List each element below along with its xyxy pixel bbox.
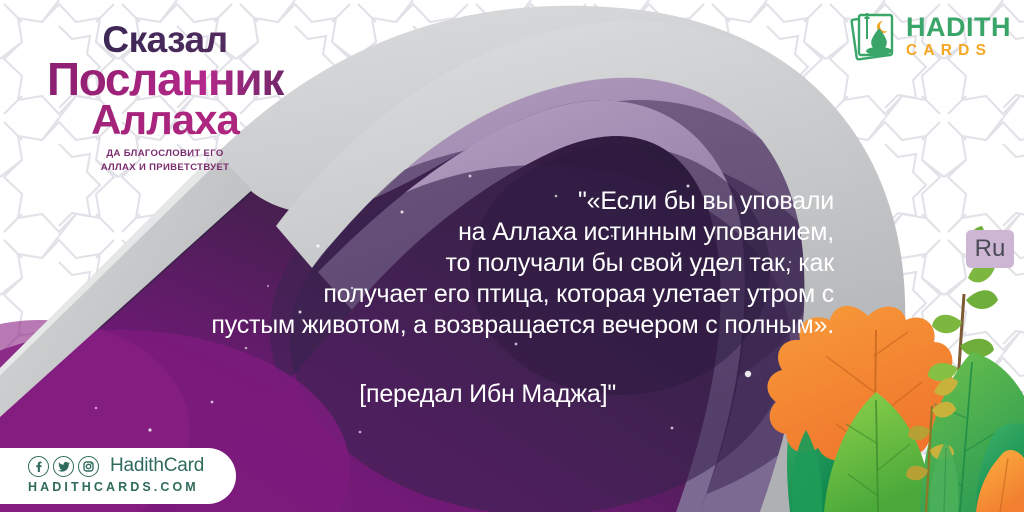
quote-line-5: пустым животом, а возвращается вечером с… xyxy=(134,310,834,341)
instagram-icon[interactable] xyxy=(78,456,99,477)
hadith-card: Сказал Посланник Аллаха ДА БЛАГОСЛОВИТ Е… xyxy=(0,0,1024,512)
quote-line-2: на Аллаха истинным упованием, xyxy=(134,217,834,248)
headline-subtitle: ДА БЛАГОСЛОВИТ ЕГО АЛЛАХ И ПРИВЕТСТВУЕТ xyxy=(0,147,330,175)
quote-line-1: "«Если бы вы уповали xyxy=(134,186,834,217)
headline-block: Сказал Посланник Аллаха ДА БЛАГОСЛОВИТ Е… xyxy=(0,22,330,175)
logo-word-hadith: HADITH xyxy=(906,14,1011,41)
logo-wordmark: HADITH CARDS xyxy=(906,14,1011,60)
quote-line-4: получает его птица, которая улетает утро… xyxy=(134,279,834,310)
quote-line-3: то получали бы свой удел так, как xyxy=(134,248,834,279)
language-badge[interactable]: Ru xyxy=(966,230,1014,268)
footer-brand-name: HadithCard xyxy=(110,455,204,477)
headline-line-allah: Аллаха xyxy=(0,99,330,141)
hadith-quote: "«Если бы вы уповали на Аллаха истинным … xyxy=(134,186,834,410)
footer-website-url[interactable]: HADITHCARDS.COM xyxy=(28,480,199,494)
twitter-icon[interactable] xyxy=(53,456,74,477)
facebook-icon[interactable] xyxy=(28,456,49,477)
headline-subtitle-line1: ДА БЛАГОСЛОВИТ ЕГО xyxy=(0,147,330,161)
mosque-cards-icon xyxy=(846,9,902,65)
logo-word-cards: CARDS xyxy=(906,41,1011,60)
footer-social-row: HadithCard xyxy=(28,455,204,477)
quote-narrator: [передал Ибн Маджа]" xyxy=(134,379,834,410)
footer-brand-pill: HadithCard HADITHCARDS.COM xyxy=(0,448,236,504)
headline-subtitle-line2: АЛЛАХ И ПРИВЕТСТВУЕТ xyxy=(0,161,330,175)
hadith-cards-logo[interactable]: HADITH CARDS xyxy=(846,8,1016,66)
